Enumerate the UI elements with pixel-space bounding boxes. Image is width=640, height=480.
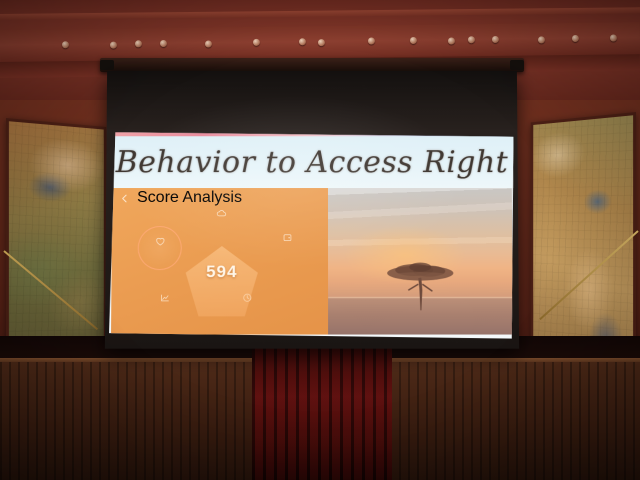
beam-stud (135, 40, 142, 47)
cloud-icon (215, 208, 226, 219)
left-wood-paneling (0, 362, 268, 480)
beam-stud (448, 37, 455, 44)
beam-stud (205, 40, 212, 47)
beam-stud (610, 34, 617, 41)
beam-stud (299, 38, 306, 45)
acacia-tree-icon (374, 248, 467, 310)
savanna-sunset-photo (328, 188, 513, 335)
app-header-bar: Score Analysis (112, 188, 330, 208)
metric-right[interactable] (260, 232, 314, 246)
beam-stud (492, 36, 499, 43)
right-wood-paneling (372, 362, 640, 480)
beam-stud (538, 36, 545, 43)
red-stage-curtain (252, 336, 392, 480)
valance-right-bracket (510, 60, 524, 70)
metric-top[interactable] (194, 208, 248, 222)
lower-room (0, 336, 640, 480)
valance-left-bracket (100, 60, 114, 70)
projection-screen-surface: Behavior to Access Right Score Analysis (105, 71, 519, 349)
ceiling-beam-highlight (0, 7, 640, 20)
chart-icon (159, 292, 170, 303)
screen-top-shadow (107, 71, 518, 130)
score-value: 594 (186, 262, 258, 282)
metric-bottom-left[interactable] (137, 292, 191, 306)
beam-stud (318, 39, 325, 46)
beam-stud (572, 35, 579, 42)
page-title: Behavior to Access Right (116, 145, 509, 180)
slide-title-band: Behavior to Access Right (110, 136, 514, 188)
wallet-icon (281, 232, 292, 243)
projected-slide: Behavior to Access Right Score Analysis (109, 132, 515, 338)
beam-stud (253, 39, 260, 46)
chevron-left-icon[interactable] (120, 194, 129, 203)
beam-stud (410, 37, 417, 44)
mobile-app-mockup: Score Analysis (111, 188, 330, 335)
beam-stud (110, 42, 117, 49)
heart-icon (154, 236, 165, 247)
beam-stud (160, 40, 167, 47)
room-scene: Behavior to Access Right Score Analysis (0, 0, 640, 480)
beam-stud (62, 41, 69, 48)
beam-stud (468, 36, 475, 43)
metric-left[interactable] (133, 236, 187, 250)
beam-stud (368, 37, 375, 44)
app-screen-title: Score Analysis (137, 189, 242, 207)
projector-screen-assembly: Behavior to Access Right Score Analysis (92, 58, 532, 348)
